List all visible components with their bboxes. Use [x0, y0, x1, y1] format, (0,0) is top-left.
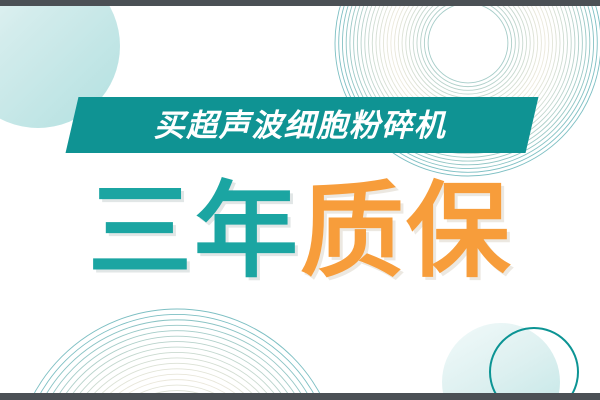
promo-poster: 买超声波细胞粉碎机 三年质保: [0, 0, 600, 400]
decorative-ring-bottom-right: [489, 327, 579, 400]
banner-headline-text: 买超声波细胞粉碎机: [0, 97, 600, 153]
window-chrome-bottom-bar: [0, 393, 600, 400]
main-headline: 三年质保: [0, 172, 600, 292]
headline-segment-teal: 三年: [88, 180, 300, 284]
decorative-circle-bottom-right: [442, 323, 560, 400]
window-chrome-top-bar: [0, 0, 600, 6]
headline-segment-orange: 质保: [300, 180, 512, 284]
decorative-arc-fan-bottom: [12, 307, 342, 400]
